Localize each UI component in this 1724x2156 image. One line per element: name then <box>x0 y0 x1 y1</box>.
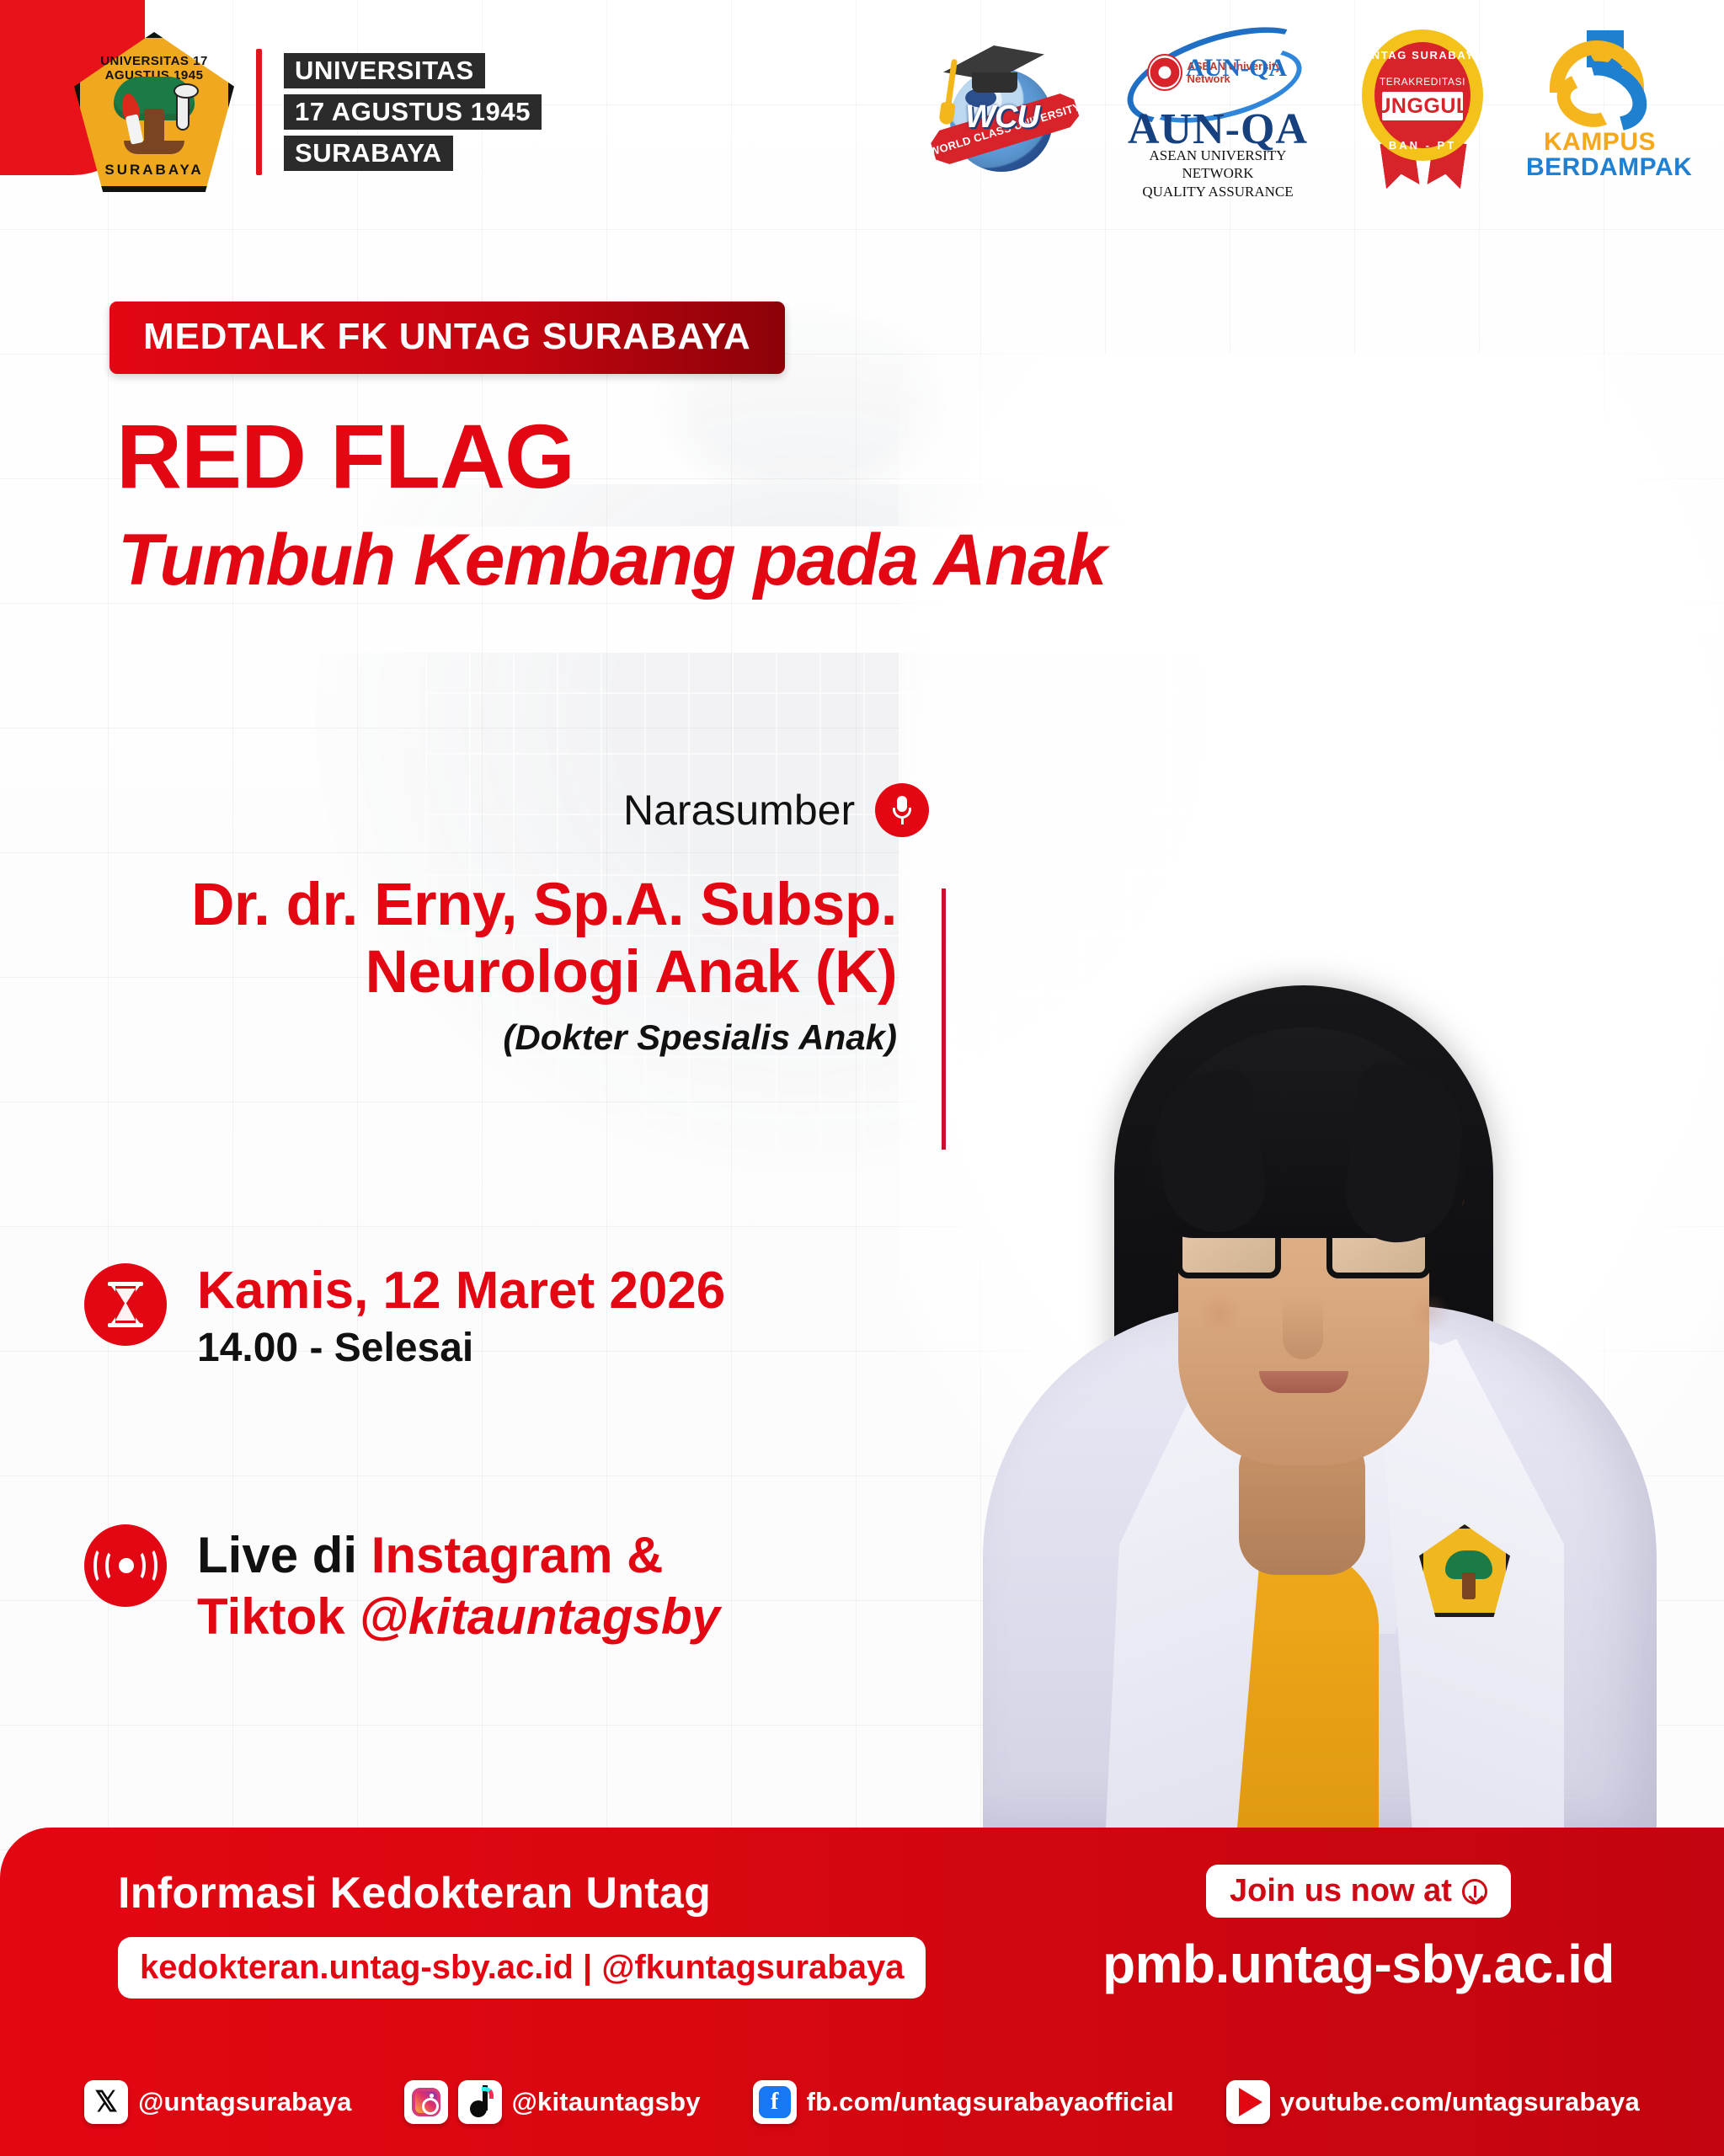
poster-canvas: UNIVERSITAS 17 AGUSTUS 1945 SURABAYA UNI… <box>0 0 1724 2156</box>
event-date-row: Kamis, 12 Maret 2026 14.00 - Selesai <box>84 1263 725 1371</box>
kampus-berdampak-logo: KAMPUS BERDAMPAK <box>1526 30 1673 180</box>
kampus-word-2: BERDAMPAK <box>1526 153 1673 182</box>
live-handle: @kitauntagsby <box>359 1588 720 1645</box>
facebook-icon: f <box>753 2080 797 2124</box>
banpt-grade: UNGGUL <box>1380 89 1465 123</box>
speaker-label-row: Narasumber <box>623 783 929 837</box>
tiktok-icon <box>458 2080 502 2124</box>
event-date: Kamis, 12 Maret 2026 <box>197 1263 725 1320</box>
footer-cta-block: Join us now at pmb.untag-sby.ac.id <box>1102 1865 1615 1995</box>
wcu-acronym: WCU <box>962 99 1043 136</box>
live-platform-2: Tiktok <box>197 1588 359 1645</box>
untag-wordmark: UNIVERSITAS 17 AGUSTUS 1945 SURABAYA <box>284 53 542 171</box>
untag-brand-lockup: UNIVERSITAS 17 AGUSTUS 1945 SURABAYA UNI… <box>74 32 542 192</box>
banpt-bottom-text: BAN - PT <box>1351 139 1494 152</box>
kampus-word-1: KAMPUS <box>1526 128 1673 157</box>
live-line-1: Live di Instagram & <box>197 1524 720 1586</box>
seal-bottom-text: SURABAYA <box>74 162 234 179</box>
live-prefix: Live di <box>197 1527 371 1583</box>
series-badge: MEDTALK FK UNTAG SURABAYA <box>109 302 785 374</box>
aun-qa-subtitle-line1: ASEAN UNIVERSITY NETWORK <box>1117 147 1319 183</box>
untag-seal-icon: UNIVERSITAS 17 AGUSTUS 1945 SURABAYA <box>74 32 234 192</box>
accreditation-logo-group: WCU WORLD CLASS UNIVERSITY ASEAN Univers… <box>925 30 1673 182</box>
arrow-down-circle-icon <box>1462 1879 1487 1904</box>
footer-contact-pill[interactable]: kedokteran.untag-sby.ac.id | @fkuntagsur… <box>118 1937 926 1999</box>
speaker-photo <box>899 632 1724 1828</box>
speaker-name-line-2: Neurologi Anak (K) <box>0 939 897 1006</box>
ban-pt-unggul-logo: UNTAG SURABAYA TERAKREDITASI UNGGUL BAN … <box>1351 30 1494 182</box>
footer-info-title: Informasi Kedokteran Untag <box>118 1868 926 1919</box>
aun-qa-subtitle: ASEAN UNIVERSITY NETWORK QUALITY ASSURAN… <box>1117 147 1319 200</box>
aun-qa-subtitle-line2: QUALITY ASSURANCE <box>1117 183 1319 200</box>
live-stream-row: Live di Instagram & Tiktok @kitauntagsby <box>84 1524 720 1647</box>
wcu-logo: WCU WORLD CLASS UNIVERSITY <box>925 30 1085 178</box>
brand-name-line-2: 17 AGUSTUS 1945 <box>284 94 542 130</box>
accreditation-ribbon-icon: UNTAG SURABAYA TERAKREDITASI UNGGUL BAN … <box>1351 30 1494 182</box>
kampus-berdampak-icon: KAMPUS BERDAMPAK <box>1526 30 1673 180</box>
brand-name-line-3: SURABAYA <box>284 136 453 171</box>
seal-tree-emblem <box>109 77 200 154</box>
social-label-facebook: fb.com/untagsurabayaofficial <box>807 2087 1174 2117</box>
join-us-pill[interactable]: Join us now at <box>1206 1865 1511 1918</box>
brand-name-line-1: UNIVERSITAS <box>284 53 485 88</box>
event-time: 14.00 - Selesai <box>197 1325 725 1371</box>
speaker-vertical-divider <box>942 889 946 1150</box>
brand-divider <box>256 49 262 175</box>
x-twitter-icon: 𝕏 <box>84 2080 128 2124</box>
instagram-icon <box>404 2080 448 2124</box>
aun-qa-logo: ASEAN University Network AUN-QA AUN-QA A… <box>1117 30 1319 173</box>
social-link-facebook[interactable]: f fb.com/untagsurabayaofficial <box>753 2080 1174 2124</box>
microphone-icon <box>875 783 929 837</box>
banpt-top-text: UNTAG SURABAYA <box>1351 49 1494 61</box>
event-subtitle: Tumbuh Kembang pada Anak <box>118 522 1106 598</box>
youtube-icon <box>1226 2080 1270 2124</box>
social-label-youtube: youtube.com/untagsurabaya <box>1280 2087 1640 2117</box>
aun-qa-icon: ASEAN University Network AUN-QA AUN-QA A… <box>1117 30 1319 173</box>
poster-header: UNIVERSITAS 17 AGUSTUS 1945 SURABAYA UNI… <box>0 0 1724 232</box>
social-link-instagram-tiktok[interactable]: @kitauntagsby <box>404 2080 701 2124</box>
social-label-instagram-tiktok: @kitauntagsby <box>512 2087 701 2117</box>
event-title: RED FLAG <box>116 411 574 502</box>
footer-info-block: Informasi Kedokteran Untag kedokteran.un… <box>118 1868 926 1999</box>
live-line-2: Tiktok @kitauntagsby <box>197 1586 720 1647</box>
social-link-x[interactable]: 𝕏 @untagsurabaya <box>84 2080 352 2124</box>
join-us-label: Join us now at <box>1230 1873 1452 1909</box>
speaker-details: Dr. dr. Erny, Sp.A. Subsp. Neurologi Ana… <box>0 872 931 1058</box>
social-link-youtube[interactable]: youtube.com/untagsurabaya <box>1226 2080 1640 2124</box>
speaker-nose <box>1283 1295 1323 1359</box>
world-class-university-icon: WCU WORLD CLASS UNIVERSITY <box>925 30 1085 178</box>
speaker-name-line-1: Dr. dr. Erny, Sp.A. Subsp. <box>0 872 897 939</box>
pmb-url[interactable]: pmb.untag-sby.ac.id <box>1102 1933 1615 1995</box>
broadcast-live-icon <box>84 1524 167 1607</box>
aun-qa-small-mark: AUN-QA <box>1186 54 1287 83</box>
footer-banner: Informasi Kedokteran Untag kedokteran.un… <box>0 1828 1724 2156</box>
speaker-mouth <box>1259 1371 1348 1393</box>
social-links-row: 𝕏 @untagsurabaya @kitauntagsby f fb.com/… <box>0 2080 1724 2124</box>
speaker-role: (Dokter Spesialis Anak) <box>0 1017 897 1058</box>
asean-seal-icon <box>1147 54 1182 91</box>
banpt-accredited-label: TERAKREDITASI <box>1351 76 1494 88</box>
speaker-label: Narasumber <box>623 786 855 835</box>
social-label-x: @untagsurabaya <box>138 2087 352 2117</box>
hourglass-icon <box>84 1263 167 1346</box>
live-platform-1: Instagram & <box>371 1527 664 1583</box>
